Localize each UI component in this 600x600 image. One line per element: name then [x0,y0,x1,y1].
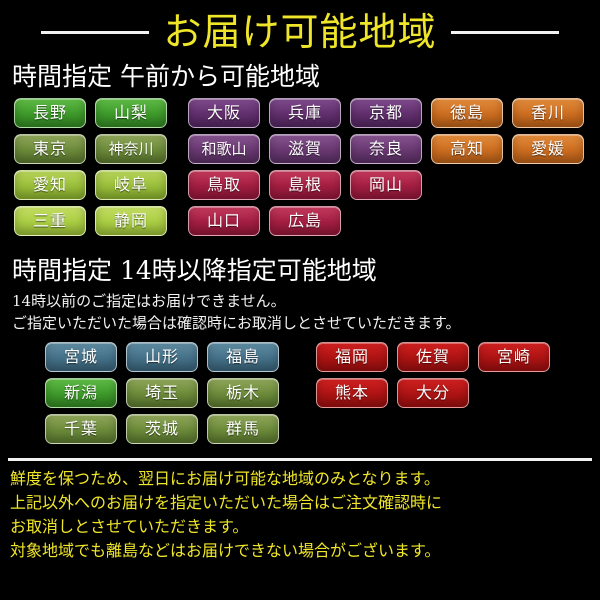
prefecture-pill: 山形 [126,342,198,372]
footer-note-3: お取消しとさせていただきます。 [0,515,600,539]
page-title: お届け可能地域 [163,11,436,53]
pill-row: 長野山梨大阪兵庫京都徳島香川 [14,98,600,134]
prefecture-pill: 大分 [397,378,469,408]
prefecture-pill: 熊本 [316,378,388,408]
prefecture-pill: 山口 [188,206,260,236]
prefecture-pill: 京都 [350,98,422,128]
prefecture-pill: 兵庫 [269,98,341,128]
delivery-area-graphic: お届け可能地域 時間指定 午前から可能地域 長野山梨大阪兵庫京都徳島香川東京神奈… [0,0,600,600]
prefecture-pill: 東京 [14,134,86,164]
pill-row: 愛知岐阜鳥取島根岡山 [14,170,600,206]
prefecture-pill: 福岡 [316,342,388,372]
prefecture-pill: 佐賀 [397,342,469,372]
section-afternoon-heading: 時間指定 14時以降指定可能地域 [0,256,600,286]
pill-row: 新潟埼玉栃木熊本大分 [45,378,600,414]
footer-divider [8,458,592,461]
pill-row: 千葉茨城群馬 [45,414,600,450]
footer-note-4: 対象地域でも離島などはお届けできない場合がございます。 [0,539,600,563]
title-rule-right [451,31,559,34]
prefecture-pill: 島根 [269,170,341,200]
prefecture-pill: 香川 [512,98,584,128]
prefecture-pill: 三重 [14,206,86,236]
footer: 鮮度を保つため、翌日にお届け可能な地域のみとなります。 上記以外へのお届けを指定… [0,458,600,563]
prefecture-pill: 長野 [14,98,86,128]
prefecture-pill: 福島 [207,342,279,372]
prefecture-pill: 滋賀 [269,134,341,164]
prefecture-pill: 徳島 [431,98,503,128]
section-morning-heading: 時間指定 午前から可能地域 [0,62,600,92]
section-morning-pill-grid: 長野山梨大阪兵庫京都徳島香川東京神奈川和歌山滋賀奈良高知愛媛愛知岐阜鳥取島根岡山… [0,98,600,242]
prefecture-pill: 高知 [431,134,503,164]
prefecture-pill: 埼玉 [126,378,198,408]
pill-row: 東京神奈川和歌山滋賀奈良高知愛媛 [14,134,600,170]
prefecture-pill: 広島 [269,206,341,236]
prefecture-pill: 千葉 [45,414,117,444]
section-afternoon: 時間指定 14時以降指定可能地域 14時以前のご指定はお届けできません。 ご指定… [0,256,600,450]
section-afternoon-note-2: ご指定いただいた場合は確認時にお取消しとさせていただきます。 [0,312,600,334]
pill-row: 三重静岡山口広島 [14,206,600,242]
prefecture-pill: 群馬 [207,414,279,444]
prefecture-pill: 茨城 [126,414,198,444]
prefecture-pill: 山梨 [95,98,167,128]
prefecture-pill: 栃木 [207,378,279,408]
prefecture-pill: 新潟 [45,378,117,408]
prefecture-pill: 愛媛 [512,134,584,164]
section-afternoon-pill-grid: 宮城山形福島福岡佐賀宮崎新潟埼玉栃木熊本大分千葉茨城群馬 [0,342,600,450]
prefecture-pill: 大阪 [188,98,260,128]
section-afternoon-note-1: 14時以前のご指定はお届けできません。 [0,290,600,312]
prefecture-pill: 岐阜 [95,170,167,200]
pill-row: 宮城山形福島福岡佐賀宮崎 [45,342,600,378]
prefecture-pill: 和歌山 [188,134,260,164]
title-rule-left [41,31,149,34]
section-morning: 時間指定 午前から可能地域 長野山梨大阪兵庫京都徳島香川東京神奈川和歌山滋賀奈良… [0,62,600,242]
footer-note-1: 鮮度を保つため、翌日にお届け可能な地域のみとなります。 [0,467,600,491]
prefecture-pill: 岡山 [350,170,422,200]
prefecture-pill: 鳥取 [188,170,260,200]
prefecture-pill: 奈良 [350,134,422,164]
footer-note-2: 上記以外へのお届けを指定いただいた場合はご注文確認時に [0,491,600,515]
prefecture-pill: 愛知 [14,170,86,200]
prefecture-pill: 神奈川 [95,134,167,164]
prefecture-pill: 静岡 [95,206,167,236]
prefecture-pill: 宮城 [45,342,117,372]
page-title-bar: お届け可能地域 [0,0,600,62]
prefecture-pill: 宮崎 [478,342,550,372]
